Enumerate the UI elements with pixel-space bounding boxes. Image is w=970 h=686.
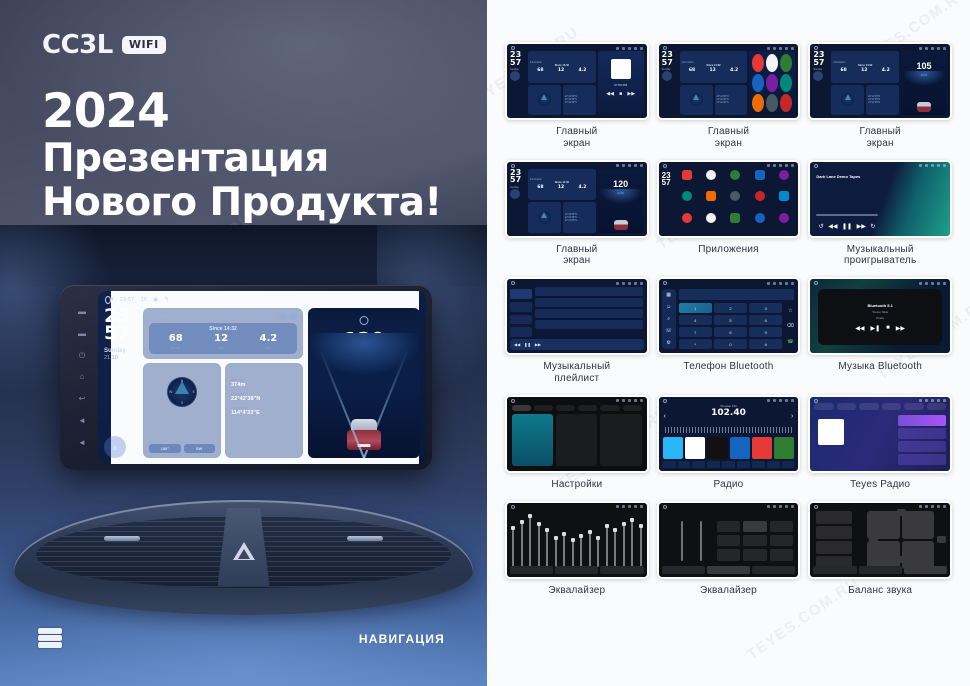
app-icon[interactable] [706,170,716,180]
media-controls[interactable]: ◀◀■▶▶ [604,91,638,97]
screen-thumbnail[interactable]: 2357 [657,160,801,238]
app-item[interactable] [774,213,794,232]
screen-thumbnail[interactable]: ◀◀❚❚▶▶ [505,277,649,355]
eq-slider-knob[interactable] [579,534,583,538]
location-card-header: Location [231,368,297,374]
radio-toolbar[interactable] [663,461,795,468]
toolbar-button[interactable] [737,461,750,468]
lower-widgets-row: 22°42'38"N22°42'38"N22°42'38"N [680,85,748,115]
app-grid[interactable] [752,54,792,112]
dialpad-key[interactable]: 8 [714,327,747,337]
eq-slider-knob[interactable] [630,518,634,522]
navigation-arrow-icon[interactable] [510,189,520,199]
clock-widget: 2357Sunday [813,51,829,115]
app-icon[interactable] [780,54,792,72]
settings-tab[interactable] [600,405,619,411]
home-circle-icon[interactable] [663,505,667,509]
status-bar: ▾ 23:57 15 ◉ ↰ [98,294,426,306]
eq-vertical-sliders[interactable] [673,521,711,561]
album-art [818,419,844,445]
location-card[interactable]: 22°42'38"N22°42'38"N22°42'38"N [563,85,596,115]
navigation-arrow-icon[interactable] [662,71,672,81]
app-icon[interactable] [766,74,778,92]
player-controls[interactable]: ↺◀◀❚❚▶▶↻ [816,223,877,230]
eq-toolbar-button[interactable] [707,566,750,574]
track-list[interactable] [535,287,643,337]
eq-toolbar-button[interactable] [555,566,598,574]
app-item[interactable] [725,213,745,232]
home-circle-icon[interactable] [511,505,515,509]
information-card[interactable]: InformationSince 14:3268124.2 [528,51,596,83]
information-card-header: Information [149,313,297,320]
layers-icon-top [38,628,62,634]
teyes-tab[interactable] [927,403,946,410]
refresh-icon[interactable] [279,313,286,320]
eq-toolbar[interactable] [662,566,796,574]
gallery-cell: Dark Lane Demo Tapes↺◀◀❚❚▶▶↻Музыкальныйп… [808,160,952,268]
information-card[interactable]: InformationSince 14:3268124.2 [528,169,596,201]
logo-model-text: CC3L [42,30,113,60]
eq-slider-knob[interactable] [613,528,617,532]
playlist-tab[interactable] [510,289,532,299]
status-icon [779,164,782,167]
station-row[interactable] [898,428,946,439]
gear-icon[interactable]: ◉ [153,297,158,303]
app-icon[interactable] [766,94,778,112]
preset-button[interactable] [770,535,794,546]
bt-title: Bluetooth 5.1 [867,303,892,308]
preset-button[interactable] [717,549,741,560]
eq-slider[interactable] [512,527,514,567]
app-item[interactable] [701,213,721,232]
tuner-scale[interactable] [665,427,793,433]
eq-toolbar[interactable] [510,566,644,574]
status-icon [931,505,934,508]
home-layout: 2357SundayInformationSince 14:3268124.22… [813,51,947,115]
toolbar-button[interactable] [767,461,780,468]
eq-slider[interactable] [681,521,683,561]
dialpad-grid[interactable]: 123456789*0# [679,303,783,349]
speed-panel[interactable]: 120 km/h [308,308,420,458]
information-card-actions[interactable] [279,313,297,320]
eq-slider-knob[interactable] [622,522,626,526]
status-icon [634,164,637,167]
road-visualization [901,71,947,115]
seat-position[interactable] [867,541,899,569]
speed-widget[interactable] [749,51,795,115]
app-item[interactable] [677,170,697,189]
volume-down-icon[interactable]: ◄ [78,417,86,425]
compass-card[interactable] [831,85,864,115]
seat-position[interactable] [867,511,899,539]
station-list[interactable] [898,415,946,465]
settings-pane[interactable] [556,414,597,466]
settings-tabs[interactable] [512,405,642,411]
eq-slider-knob[interactable] [605,524,609,528]
home-circle-icon[interactable] [663,281,667,285]
toolbar-button[interactable] [722,461,735,468]
status-icon [628,505,631,508]
app-item[interactable] [725,170,745,189]
track-row[interactable] [535,298,643,307]
toolbar-button[interactable] [707,461,720,468]
eq-slider-knob[interactable] [520,520,524,524]
home-circle-icon[interactable] [663,164,667,168]
station-row[interactable] [898,415,946,426]
settings-tab[interactable] [578,405,597,411]
home-circle-icon[interactable] [663,399,667,403]
eq-slider[interactable] [700,521,702,561]
compass-card[interactable] [528,85,561,115]
album-art [611,59,631,79]
app-item[interactable] [701,191,721,210]
next-station-button[interactable]: › [791,413,793,420]
preset-tile[interactable] [752,437,772,459]
preset-button[interactable] [770,549,794,560]
power-button-icon[interactable]: ⏻ [79,352,85,360]
preset-list[interactable] [816,511,852,569]
dialpad-key[interactable]: 3 [749,303,782,313]
app-item[interactable] [750,191,770,210]
seat-position[interactable] [902,511,934,539]
preset-button[interactable] [717,521,741,532]
dialpad-key[interactable]: 9 [749,327,782,337]
eq-slider[interactable] [563,533,565,567]
dialpad-key[interactable]: 1 [679,303,712,313]
volume-up-icon[interactable]: ◄ [78,439,86,447]
eq-toolbar-button[interactable] [752,566,795,574]
screen-thumbnail[interactable]: 2357SundayInformationSince 14:3268124.22… [657,42,801,120]
eq-slider-knob[interactable] [639,524,643,528]
playlist-sidebar[interactable] [510,289,532,337]
eq-slider[interactable] [623,523,625,567]
app-item[interactable] [701,170,721,189]
preset-button[interactable] [743,549,767,560]
vent-slider-right[interactable] [347,536,383,541]
preset-grid[interactable] [717,521,794,561]
status-icon [634,47,637,50]
screen-thumbnail[interactable] [657,501,801,579]
call-actions[interactable]: ☆⌫☎ [784,303,796,349]
status-icons [767,164,794,167]
preset-tiles[interactable] [663,437,795,459]
playlist-tab[interactable] [510,327,532,337]
playlist-tab[interactable] [510,302,532,312]
eq-slider-knob[interactable] [588,530,592,534]
now-playing-bar[interactable]: ◀◀❚❚▶▶ [510,339,644,350]
home-circle-icon[interactable] [511,399,515,403]
station-row[interactable] [898,454,946,465]
preset-item[interactable] [816,511,852,524]
eq-slider[interactable] [546,529,548,567]
thumb-status-bar [507,280,647,286]
eq-slider[interactable] [529,515,531,567]
app-item[interactable] [677,191,697,210]
eq-slider-knob[interactable] [528,514,532,518]
navigation-arrow-icon[interactable] [510,71,520,81]
eq-slider[interactable] [572,539,574,567]
home-circle-icon[interactable] [511,164,515,168]
teyes-tab[interactable] [904,403,923,410]
screen-thumbnail[interactable] [808,501,952,579]
lower-widgets-row: 22°42'38"N22°42'38"N22°42'38"N [831,85,899,115]
screen-caption: Радио [714,479,744,491]
track-row[interactable] [535,287,643,296]
screen-thumbnail[interactable]: Bluetooth 5.1Toosie SlideDrake◀◀▶❚■▶▶ [808,277,952,355]
app-item[interactable] [774,170,794,189]
eq-slider-knob[interactable] [596,536,600,540]
status-icon [779,282,782,285]
balance-toolbar-button[interactable] [859,566,902,574]
settings-tab[interactable] [512,405,531,411]
information-card[interactable]: Information Since 14:32 [143,308,303,359]
screen-thumbnail[interactable]: 2357SundayInformationSince 14:3268124.22… [505,42,649,120]
app-icon[interactable] [752,54,764,72]
eq-slider[interactable] [555,537,557,567]
playlist-tab[interactable] [510,315,532,325]
dialpad-key[interactable]: * [679,339,712,349]
eq-slider[interactable] [640,525,642,567]
dialpad-key[interactable]: # [749,339,782,349]
eq-slider[interactable] [538,523,540,567]
prev-station-button[interactable]: ‹ [664,413,666,420]
clock-weekday: Sunday [104,348,138,354]
status-icon [640,282,643,285]
lower-widgets-row: 22°42'38"N22°42'38"N22°42'38"N [528,202,596,232]
home-circle-icon[interactable] [814,281,818,285]
app-icon[interactable] [755,213,765,223]
eq-toolbar-button[interactable] [662,566,705,574]
eq-slider[interactable] [614,529,616,567]
toolbar-button[interactable] [678,461,691,468]
settings-tab[interactable] [556,405,575,411]
teyes-tab[interactable] [837,403,856,410]
eq-slider[interactable] [606,525,608,567]
app-icon[interactable] [682,191,692,201]
speed-widget[interactable]: 105km/h [901,51,947,115]
status-icon [779,505,782,508]
dialpad-key[interactable]: 5 [714,315,747,325]
app-icon[interactable] [779,191,789,201]
compass-card[interactable]: Compass N S W E [143,363,221,458]
seat-position[interactable] [902,541,934,569]
preset-item[interactable] [816,526,852,539]
status-icon [931,164,934,167]
app-icon[interactable] [779,170,789,180]
toolbar-button[interactable] [663,461,676,468]
eq-slider-knob[interactable] [511,526,515,530]
app-icon[interactable] [682,170,692,180]
preset-tile[interactable] [685,437,705,459]
status-icon [616,47,619,50]
toolbar-button[interactable] [752,461,765,468]
progress-bar[interactable] [816,214,877,216]
teyes-tabs[interactable] [814,403,946,410]
app-grid[interactable] [677,170,795,232]
app-icon[interactable] [780,74,792,92]
station-row[interactable] [898,441,946,452]
home-circle-icon[interactable] [511,281,515,285]
preset-button[interactable] [717,535,741,546]
home-button-icon[interactable]: ⌂ [80,373,85,381]
compass-card-header: Compass [149,368,215,374]
gallery-cell: Эквалайзер [505,501,649,597]
location-longitude: Longitude 114°4'33"E [231,406,297,416]
back-arrow-icon[interactable]: ↰ [164,297,169,303]
preset-tile[interactable] [730,437,750,459]
screen-caption: Эквалайзер [700,585,757,597]
app-icon[interactable] [706,213,716,223]
location-card[interactable]: 22°42'38"N22°42'38"N22°42'38"N [715,85,748,115]
preset-item[interactable] [816,541,852,554]
screen-thumbnail[interactable] [505,501,649,579]
eq-slider-knob[interactable] [554,536,558,540]
settings-tab[interactable] [623,405,642,411]
toolbar-button[interactable] [692,461,705,468]
app-item[interactable] [677,213,697,232]
footer-label: НАВИГАЦИЯ [359,632,445,646]
compass-card[interactable] [680,85,713,115]
eq-toolbar-button[interactable] [600,566,643,574]
eq-slider[interactable] [597,537,599,567]
screen-thumbnail[interactable]: Dark Lane Demo Tapes↺◀◀❚❚▶▶↻ [808,160,952,238]
compass-card[interactable] [528,202,561,232]
app-icon[interactable] [780,94,792,112]
home-circle-icon[interactable] [814,505,818,509]
preset-button[interactable] [743,521,767,532]
status-icon [937,282,940,285]
head-unit-side-buttons[interactable]: ▬ ▬ ⏻ ⌂ ↩ ◄ ◄ [66,291,98,464]
app-icon[interactable] [706,191,716,201]
location-card[interactable]: 22°42'38"N22°42'38"N22°42'38"N [563,202,596,232]
media-widget[interactable]: 07:50 PM◀◀■▶▶ [598,51,644,115]
app-icon[interactable] [755,170,765,180]
status-icons [767,505,794,508]
thumb-status-bar [810,280,950,286]
preset-tile[interactable] [663,437,683,459]
app-icon[interactable] [730,191,740,201]
home-circle-icon[interactable] [814,164,818,168]
app-icon[interactable] [730,213,740,223]
app-item[interactable] [750,213,770,232]
head-unit-screen[interactable]: ▾ 23:57 15 ◉ ↰ 23 57 Sunday 21.10 [98,291,426,464]
dialpad-key[interactable]: 7 [679,327,712,337]
app-item[interactable] [725,191,745,210]
track-row[interactable] [535,320,643,329]
screen-caption: Настройки [551,479,602,491]
navigation-arrow-icon[interactable]: ▲ [104,436,126,458]
teyes-tab[interactable] [859,403,878,410]
dialpad-key[interactable]: 2 [714,303,747,313]
speed-widget[interactable]: 120km/h [598,169,644,233]
vent-slider-left[interactable] [104,536,140,541]
gallery-cell: ▦☺⌕☏⚙123456789*0#☆⌫☎Телефон Bluetooth [657,277,801,385]
back-button-icon[interactable]: ↩ [79,395,86,403]
app-item[interactable] [750,170,770,189]
app-icon[interactable] [779,213,789,223]
navigation-arrow-icon[interactable] [813,71,823,81]
location-card[interactable]: 22°42'38"N22°42'38"N22°42'38"N [866,85,899,115]
app-icon[interactable] [766,54,778,72]
preset-tile[interactable] [707,437,727,459]
status-icon [640,164,643,167]
settings-pane[interactable] [512,414,553,466]
information-card[interactable]: InformationSince 14:3268124.2 [831,51,899,83]
home-layout: 2357SundayInformationSince 14:3268124.22… [510,169,644,233]
app-icon[interactable] [682,213,692,223]
app-icon[interactable] [752,94,764,112]
settings-pane[interactable] [600,414,641,466]
preset-button[interactable] [743,535,767,546]
media-time: 07:50 PM [598,83,644,87]
eq-slider[interactable] [631,519,633,567]
screen-thumbnail[interactable]: ▦☺⌕☏⚙123456789*0#☆⌫☎ [657,277,801,355]
teyes-tab[interactable] [814,403,833,410]
bt-controls[interactable]: ◀◀▶❚■▶▶ [855,325,905,332]
screen-thumbnail[interactable]: Russian FM102.40‹› [657,395,801,473]
eq-slider-knob[interactable] [545,528,549,532]
eq-slider-knob[interactable] [537,522,541,526]
button-plus-icon[interactable]: ▬ [78,330,86,338]
expand-icon[interactable] [290,313,297,320]
status-icon [779,47,782,50]
phone-sidebar[interactable]: ▦☺⌕☏⚙ [662,289,676,349]
balance-toolbar[interactable] [813,566,947,574]
status-icon [640,47,643,50]
eq-slider-knob[interactable] [562,532,566,536]
dialpad-key[interactable]: 4 [679,315,712,325]
track-row[interactable] [535,309,643,318]
screen-thumbnail[interactable] [808,395,952,473]
preset-button[interactable] [770,521,794,532]
eq-slider-knob[interactable] [571,538,575,542]
clock-widget: 23 57 Sunday 21.10 ▲ [104,308,138,458]
app-icon[interactable] [752,74,764,92]
status-icon [919,505,922,508]
balance-toolbar-button[interactable] [813,566,856,574]
screen-thumbnail[interactable]: 2357SundayInformationSince 14:3268124.22… [505,160,649,238]
eq-toolbar-button[interactable] [510,566,553,574]
app-icon[interactable] [755,191,765,201]
gallery-cell: Настройки [505,395,649,491]
balance-toolbar-button[interactable] [904,566,947,574]
status-icons [616,505,643,508]
screen-thumbnail[interactable]: 2357SundayInformationSince 14:3268124.22… [808,42,952,120]
seat-grid[interactable] [857,511,944,569]
equalizer-sliders[interactable] [512,513,642,567]
eq-slider[interactable] [580,535,582,567]
app-item[interactable] [774,191,794,210]
dialpad-key[interactable]: 0 [714,339,747,349]
stat-value: 4.2 [730,68,738,73]
status-time: 23:57 [120,297,135,303]
eq-slider[interactable] [521,521,523,567]
settings-tab[interactable] [534,405,553,411]
eq-slider[interactable] [589,531,591,567]
dialpad-key[interactable]: 6 [749,315,782,325]
location-line: 22°42'38"N [565,101,594,104]
information-card[interactable]: InformationSince 14:3268124.2 [680,51,748,83]
screen-thumbnail[interactable] [505,395,649,473]
preset-tile[interactable] [774,437,794,459]
app-icon[interactable] [730,170,740,180]
location-card[interactable]: Location Altitude 374m Latitude 22°42'38… [225,363,303,458]
status-icon [925,47,928,50]
toolbar-button[interactable] [782,461,795,468]
teyes-tab[interactable] [882,403,901,410]
button-minus-icon[interactable]: ▬ [78,308,86,316]
bt-panel: Bluetooth 5.1Toosie SlideDrake◀◀▶❚■▶▶ [818,289,942,345]
